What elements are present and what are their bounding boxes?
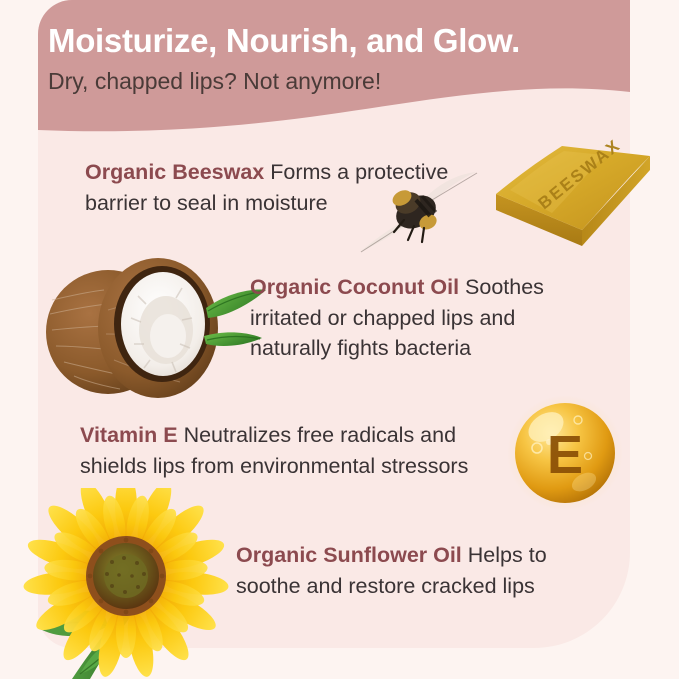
benefit-term-beeswax: Organic Beeswax [85,160,264,184]
benefit-item-vitamin-e: Vitamin E Neutralizes free radicals and … [80,420,510,481]
benefit-term-sunflower-oil: Organic Sunflower Oil [236,543,462,567]
benefit-item-coconut-oil: Organic Coconut Oil Soothes irritated or… [250,272,590,364]
coconut-image [30,248,266,408]
ingredient-benefits-infographic: Moisturize, Nourish, and Glow. Dry, chap… [0,0,679,679]
sunflower-image [8,488,236,679]
vitamin-e-capsule-image: E [506,394,624,512]
vitamin-e-capsule-letter: E [547,425,583,485]
benefit-item-beeswax: Organic Beeswax Forms a protective barri… [85,157,485,218]
page-subtitle: Dry, chapped lips? Not anymore! [48,68,568,96]
benefit-term-coconut-oil: Organic Coconut Oil [250,275,459,299]
benefit-item-sunflower-oil: Organic Sunflower Oil Helps to soothe an… [236,540,586,601]
header-text-block: Moisturize, Nourish, and Glow. Dry, chap… [48,22,568,96]
beeswax-bar-image: BEESWAX [484,118,674,250]
page-title: Moisturize, Nourish, and Glow. [48,22,568,60]
benefit-term-vitamin-e: Vitamin E [80,423,178,447]
